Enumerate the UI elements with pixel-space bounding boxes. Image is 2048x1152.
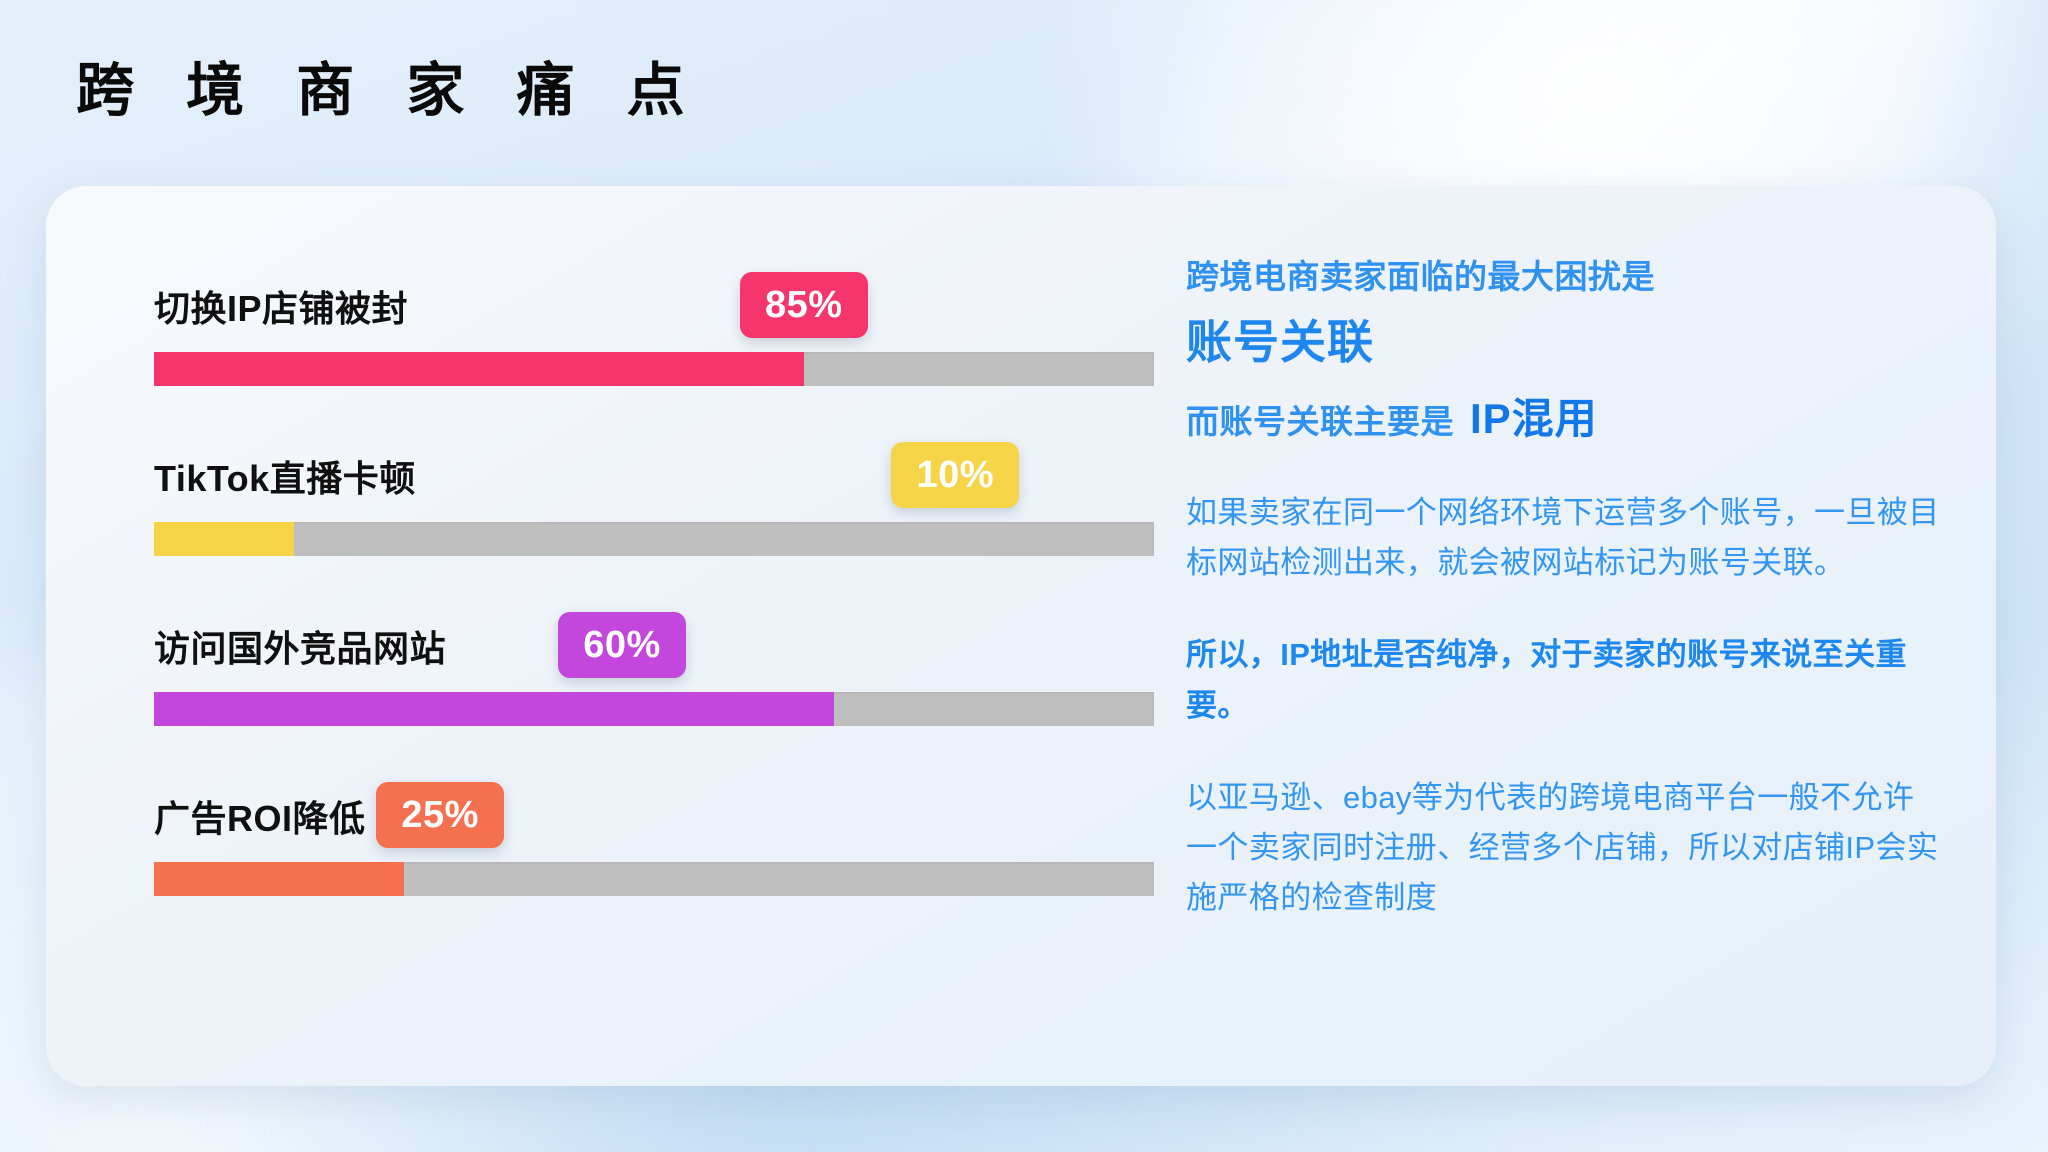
bar-fill — [154, 862, 404, 896]
bar-header: 广告ROI降低 25% — [106, 770, 1116, 844]
bar-group: 广告ROI降低 25% — [106, 770, 1116, 896]
bar-value-badge: 60% — [558, 612, 686, 678]
panel-sub-line: 而账号关联主要是 IP混用 — [1186, 385, 1940, 446]
pain-point-bar-chart: 切换IP店铺被封 85% TikTok直播卡顿 10% 访问国外竞品网站 60% — [46, 186, 1166, 1086]
panel-sub-prefix: 而账号关联主要是 — [1186, 395, 1454, 443]
page-title: 跨 境 商 家 痛 点 — [76, 58, 703, 125]
panel-paragraph-2: 所以，IP地址是否纯净，对于卖家的账号来说至关重要。 — [1186, 630, 1940, 730]
bar-fill — [154, 522, 294, 556]
bar-fill — [154, 352, 804, 386]
panel-lead-line: 跨境电商卖家面临的最大困扰是 — [1186, 252, 1940, 302]
bar-group: 访问国外竞品网站 60% — [106, 600, 1116, 726]
bar-track — [154, 522, 1154, 556]
bar-value-badge: 85% — [740, 272, 868, 338]
bar-track — [154, 692, 1154, 726]
bar-group: TikTok直播卡顿 10% — [106, 430, 1116, 556]
bar-header: TikTok直播卡顿 10% — [106, 430, 1116, 504]
panel-sub-emphasis: IP混用 — [1470, 385, 1598, 446]
bar-track — [154, 352, 1154, 386]
content-card: 切换IP店铺被封 85% TikTok直播卡顿 10% 访问国外竞品网站 60% — [46, 186, 1996, 1086]
panel-headline: 账号关联 — [1186, 314, 1940, 372]
bar-label: 广告ROI降低 — [154, 790, 366, 842]
bar-label: TikTok直播卡顿 — [154, 450, 416, 502]
bar-fill — [154, 692, 834, 726]
bar-value-badge: 25% — [376, 782, 504, 848]
explanation-panel: 跨境电商卖家面临的最大困扰是 账号关联 而账号关联主要是 IP混用 如果卖家在同… — [1166, 186, 1996, 1086]
bar-header: 切换IP店铺被封 85% — [106, 260, 1116, 334]
bar-value-badge: 10% — [891, 442, 1019, 508]
bar-label: 切换IP店铺被封 — [154, 280, 408, 332]
bar-track — [154, 862, 1154, 896]
bar-label: 访问国外竞品网站 — [154, 620, 446, 672]
panel-paragraph-3: 以亚马逊、ebay等为代表的跨境电商平台一般不允许一个卖家同时注册、经营多个店铺… — [1186, 773, 1940, 924]
bar-group: 切换IP店铺被封 85% — [106, 260, 1116, 386]
panel-paragraph-1: 如果卖家在同一个网络环境下运营多个账号，一旦被目标网站检测出来，就会被网站标记为… — [1186, 488, 1940, 588]
bar-header: 访问国外竞品网站 60% — [106, 600, 1116, 674]
